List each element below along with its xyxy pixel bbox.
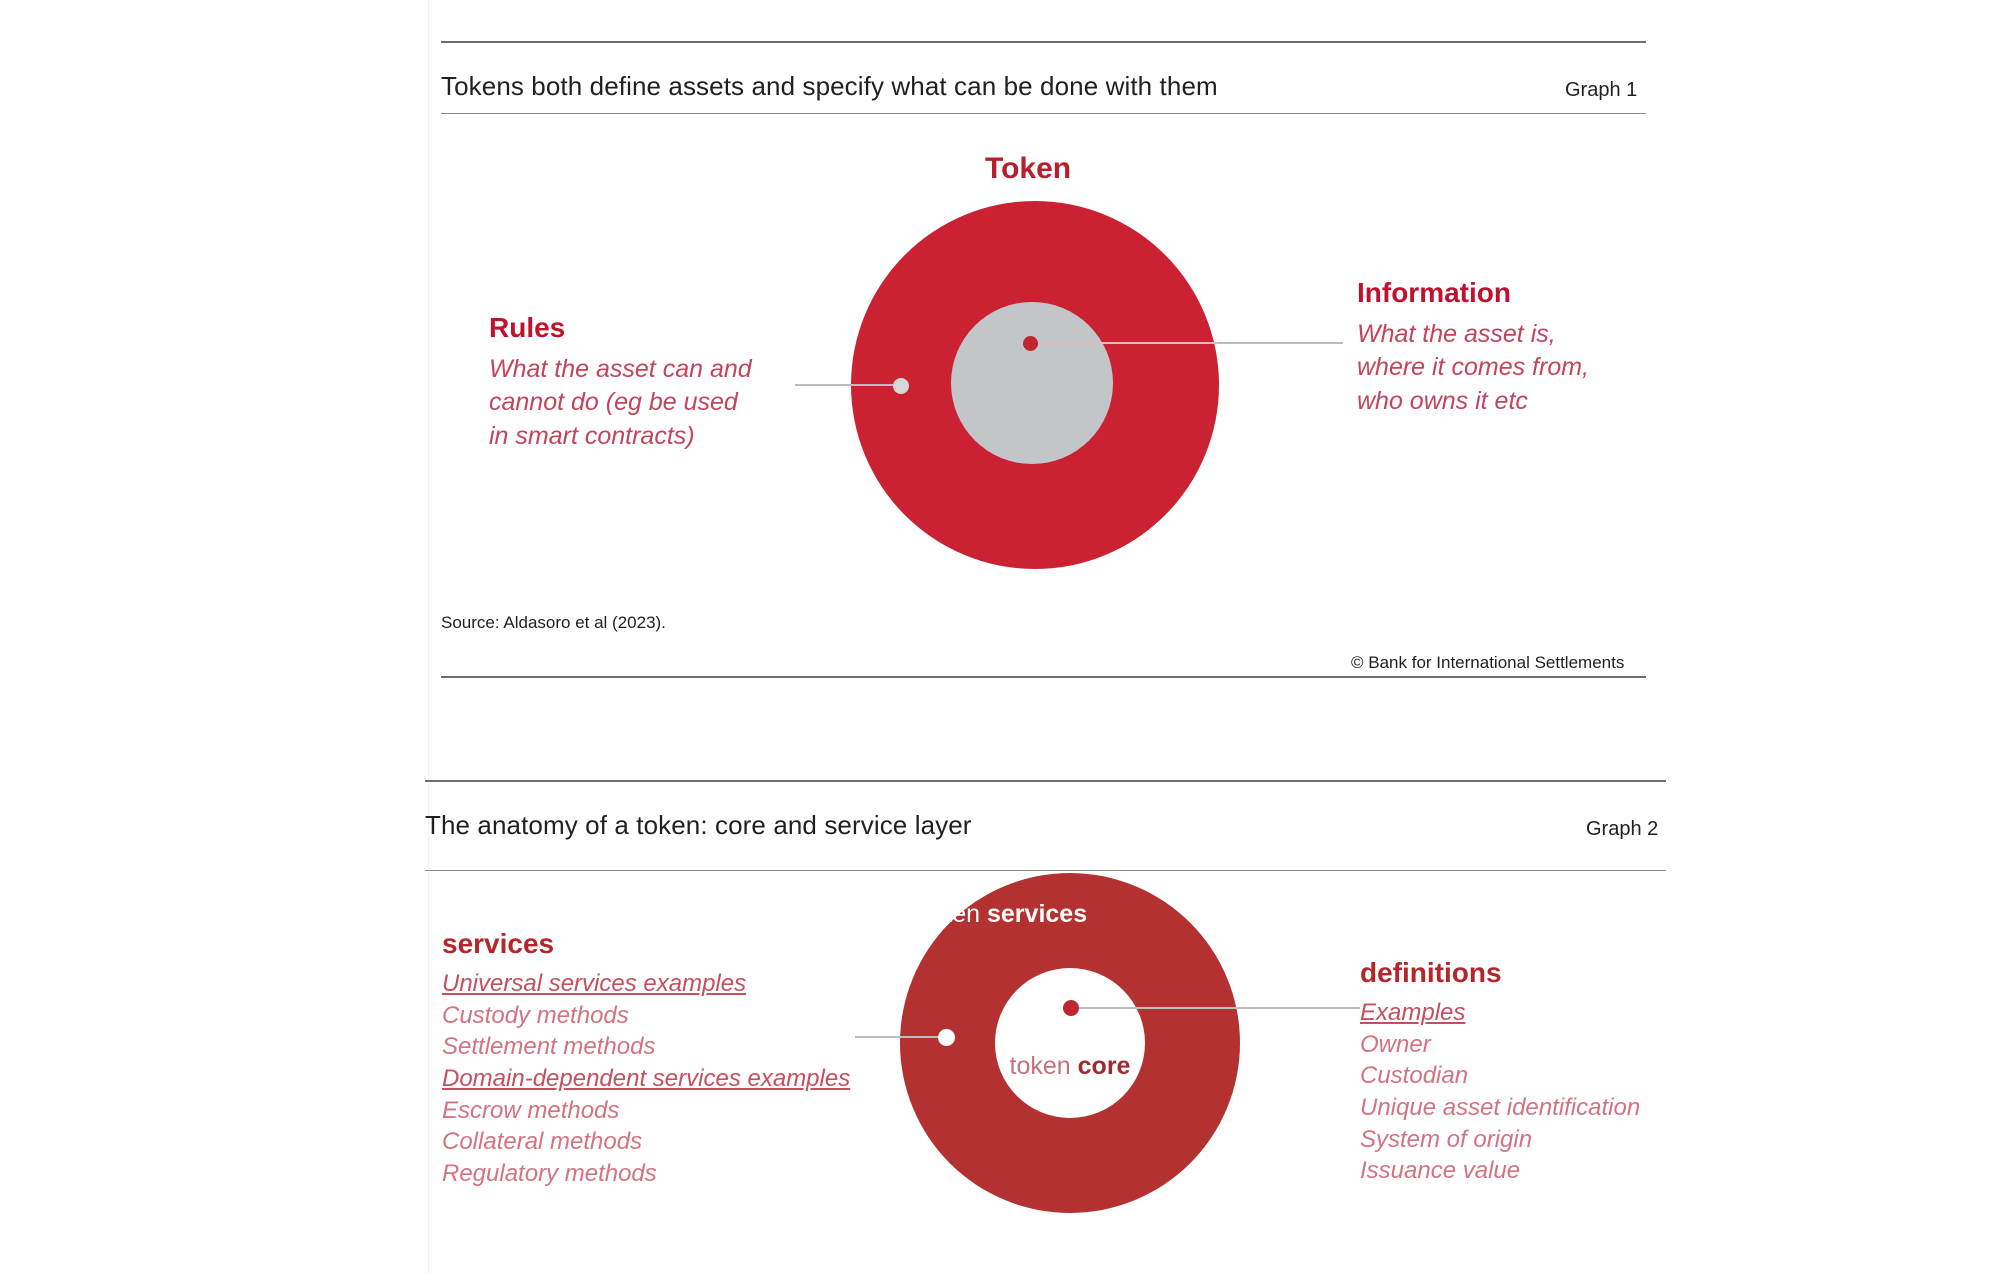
graph2-title: The anatomy of a token: core and service… — [425, 810, 972, 841]
graph2-number: Graph 2 — [1586, 818, 1658, 841]
list-item: Owner — [1360, 1029, 1640, 1061]
list-item: Custody methods — [442, 1000, 850, 1032]
graph2-ring-label-bold: services — [987, 900, 1087, 928]
graph2-right-leader-line — [1070, 1007, 1360, 1009]
list-item: Escrow methods — [442, 1095, 850, 1127]
page-canvas: Tokens both define assets and specify wh… — [0, 0, 2000, 1274]
graph2-core-label: token core — [1010, 1052, 1131, 1081]
graph2-ring-label-light: token — [919, 900, 987, 928]
graph2-core-hole — [995, 968, 1145, 1118]
graph2-right-leader-dot — [1063, 1000, 1079, 1016]
graph2-core-label-bold: core — [1078, 1052, 1131, 1080]
graph2-left-leader-dot — [938, 1029, 955, 1046]
graph2-services-list: Universal services examples Custody meth… — [442, 968, 850, 1190]
graph2-core-label-light: token — [1010, 1052, 1078, 1080]
graph2-definitions-list: Examples Owner Custodian Unique asset id… — [1360, 997, 1640, 1187]
list-item: Regulatory methods — [442, 1158, 850, 1190]
graph2-rule-top — [425, 780, 1666, 782]
graph2-right-callout-heading: definitions — [1360, 957, 1502, 989]
list-item: Universal services examples — [442, 968, 850, 1000]
graph2-ring-label: token services — [919, 900, 1087, 929]
graph2-left-leader-line — [855, 1036, 950, 1038]
list-item: Domain-dependent services examples — [442, 1063, 850, 1095]
graph-2: The anatomy of a token: core and service… — [0, 0, 2000, 1274]
graph2-rule-under-title — [425, 870, 1666, 871]
list-item: Custodian — [1360, 1060, 1640, 1092]
list-item: Issuance value — [1360, 1155, 1640, 1187]
list-item: Settlement methods — [442, 1031, 850, 1063]
list-item: Collateral methods — [442, 1126, 850, 1158]
list-item: System of origin — [1360, 1124, 1640, 1156]
graph2-left-callout-heading: services — [442, 928, 554, 960]
list-item: Unique asset identification — [1360, 1092, 1640, 1124]
list-item: Examples — [1360, 997, 1640, 1029]
